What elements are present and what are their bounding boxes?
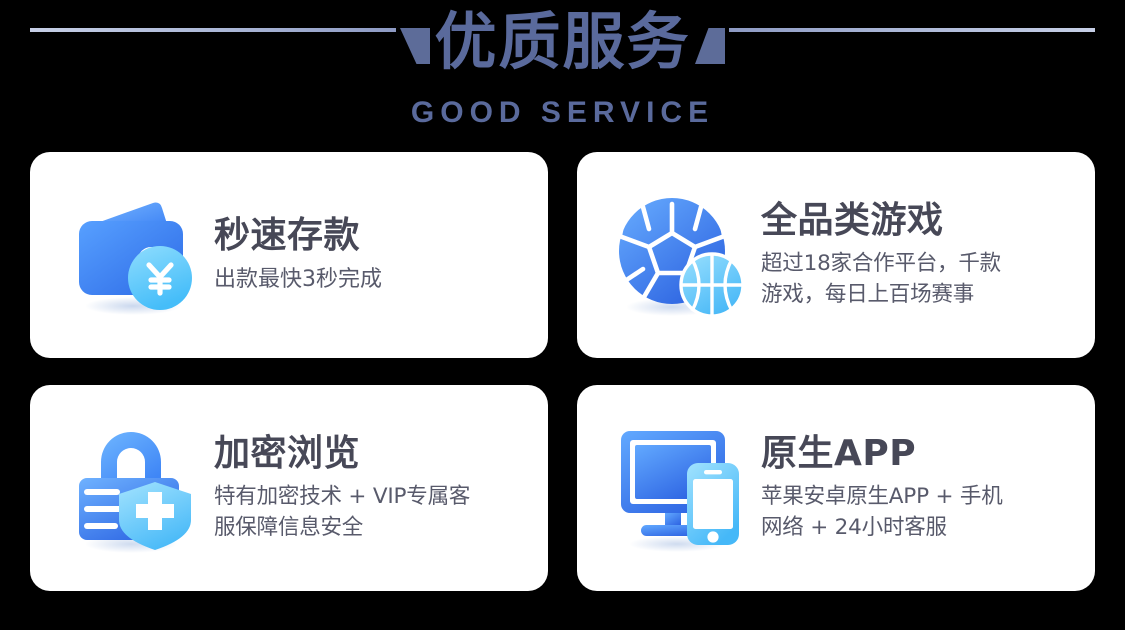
soccer-basketball-icon: [605, 180, 755, 330]
card-title: 全品类游戏: [761, 200, 1079, 242]
page-subtitle: GOOD SERVICE: [0, 96, 1125, 130]
card-description-line-2: 游戏，每日上百场赛事: [761, 280, 1079, 311]
card-description-line-1: 苹果安卓原生APP + 手机: [761, 482, 1079, 513]
card-text-block: 加密浏览 特有加密技术 + VIP专属客 服保障信息安全: [208, 433, 532, 544]
card-description-line-2: 服保障信息安全: [214, 513, 532, 544]
card-text-block: 秒速存款 出款最快3秒完成: [208, 215, 532, 296]
card-text-block: 原生APP 苹果安卓原生APP + 手机 网络 + 24小时客服: [755, 433, 1079, 544]
card-description: 苹果安卓原生APP + 手机 网络 + 24小时客服: [761, 482, 1079, 543]
card-description: 特有加密技术 + VIP专属客 服保障信息安全: [214, 482, 532, 543]
feature-card-native-app[interactable]: 原生APP 苹果安卓原生APP + 手机 网络 + 24小时客服: [577, 385, 1095, 591]
monitor-phone-icon: [605, 413, 755, 563]
card-description-line-2: 网络 + 24小时客服: [761, 513, 1079, 544]
card-description: 超过18家合作平台，千款 游戏，每日上百场赛事: [761, 249, 1079, 310]
feature-card-games[interactable]: 全品类游戏 超过18家合作平台，千款 游戏，每日上百场赛事: [577, 152, 1095, 358]
feature-card-deposit[interactable]: 秒速存款 出款最快3秒完成: [30, 152, 548, 358]
page-title: 优质服务: [0, 6, 1125, 77]
card-title: 加密浏览: [214, 433, 532, 475]
card-title: 原生APP: [761, 433, 1079, 475]
wallet-yen-icon: [58, 180, 208, 330]
feature-card-grid: 秒速存款 出款最快3秒完成: [30, 152, 1095, 602]
card-description-line-1: 超过18家合作平台，千款: [761, 249, 1079, 280]
lock-shield-icon: [58, 413, 208, 563]
page-header: 优质服务 GOOD SERVICE: [0, 0, 1125, 152]
card-description-line-1: 特有加密技术 + VIP专属客: [214, 482, 532, 513]
card-text-block: 全品类游戏 超过18家合作平台，千款 游戏，每日上百场赛事: [755, 200, 1079, 311]
card-title: 秒速存款: [214, 215, 532, 257]
feature-card-encryption[interactable]: 加密浏览 特有加密技术 + VIP专属客 服保障信息安全: [30, 385, 548, 591]
card-description: 出款最快3秒完成: [214, 264, 532, 295]
